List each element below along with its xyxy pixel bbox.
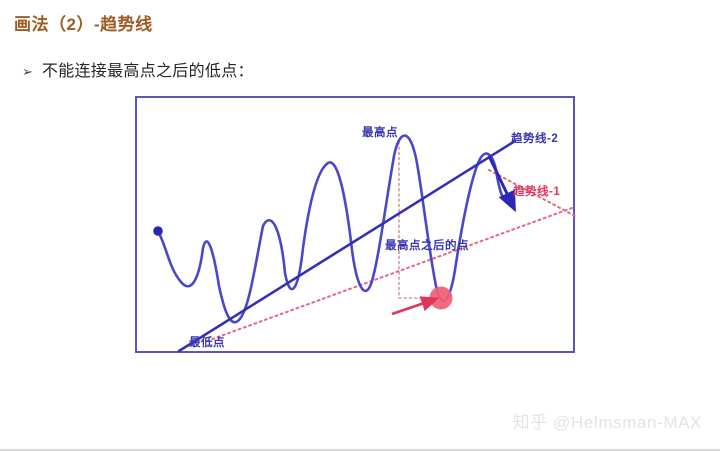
bullet-item-label: 不能连接最高点之后的低点： <box>42 57 254 81</box>
breakdown-arrow-icon <box>489 156 511 202</box>
red-pointer-arrow-icon <box>392 301 430 314</box>
trendline-1-label: 趋势线-1 <box>513 183 560 199</box>
lowest-point-label: 最低点 <box>189 334 225 350</box>
slide-canvas: 画法（2）-趋势线 ➢ 不能连接最高点之后的低点： <box>0 0 720 451</box>
series-start-marker <box>153 226 163 236</box>
trendline-2-label: 趋势线-2 <box>511 130 558 146</box>
bullet-arrow-icon: ➢ <box>22 65 33 78</box>
trendline-chart: 最高点 趋势线-2 趋势线-1 最高点之后的点 最低点 <box>135 96 575 353</box>
watermark: 知乎 @Helmsman-MAX <box>513 408 702 433</box>
point-after-high-marker <box>430 287 453 310</box>
highest-point-label: 最高点 <box>362 124 398 140</box>
price-wave-path <box>158 136 507 323</box>
page-title: 画法（2）-趋势线 <box>14 10 153 35</box>
bullet-item: ➢ 不能连接最高点之后的低点： <box>22 57 254 81</box>
point-after-high-label: 最高点之后的点 <box>385 237 469 253</box>
